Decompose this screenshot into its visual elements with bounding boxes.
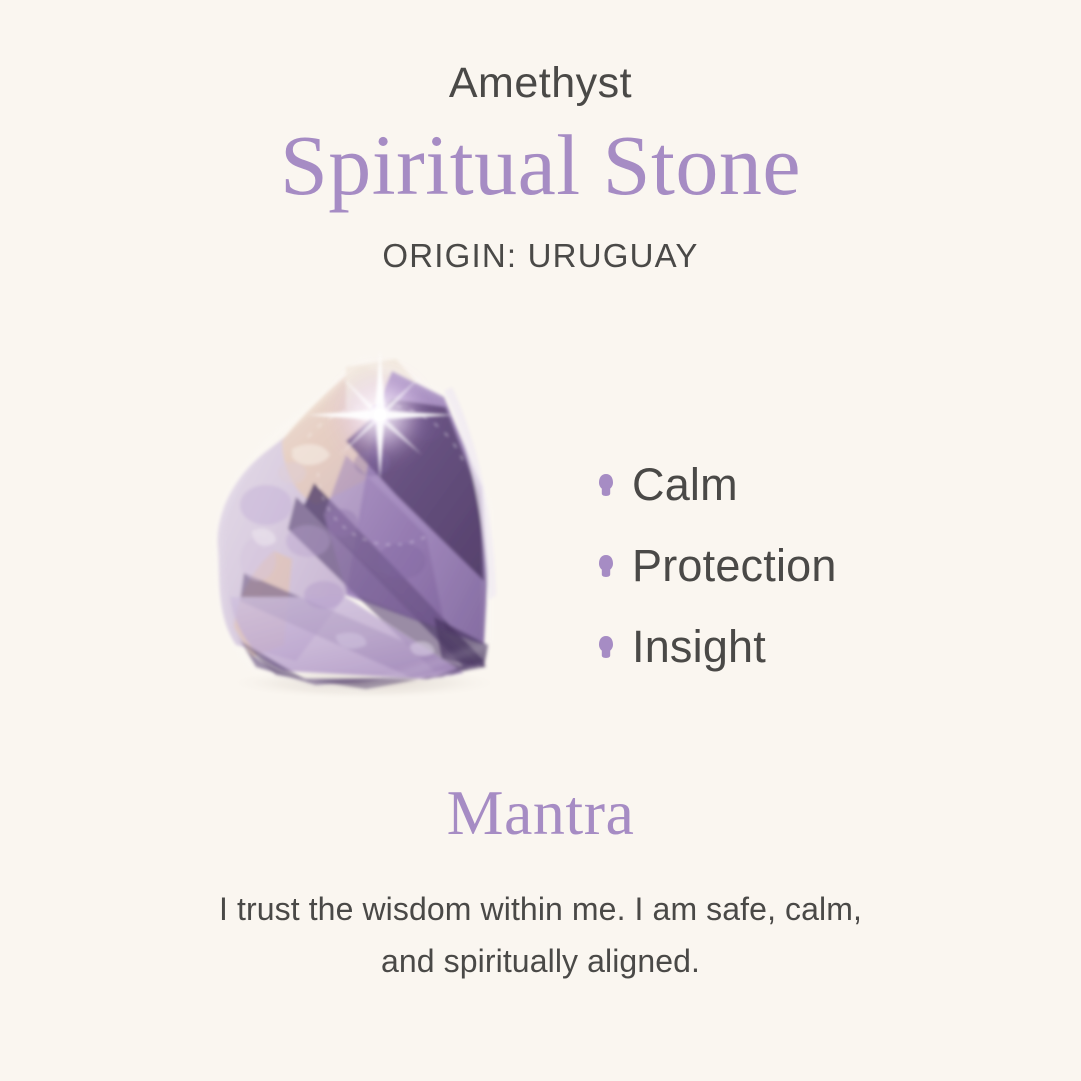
page-title: Spiritual Stone	[0, 107, 1081, 212]
property-label: Protection	[632, 543, 837, 588]
mantra-section: Mantra I trust the wisdom within me. I a…	[0, 778, 1081, 988]
properties-list: Calm Protection Insight	[598, 444, 837, 687]
gem-bullet-icon	[598, 636, 614, 658]
amethyst-crystal-icon	[196, 345, 526, 715]
mantra-text: I trust the wisdom within me. I am safe,…	[191, 848, 891, 988]
list-item: Insight	[598, 606, 837, 687]
stone-card: Amethyst Spiritual Stone ORIGIN: URUGUAY	[0, 0, 1081, 1081]
gem-bullet-icon	[598, 555, 614, 577]
list-item: Calm	[598, 444, 837, 525]
card-header: Amethyst Spiritual Stone ORIGIN: URUGUAY	[0, 0, 1081, 274]
property-label: Insight	[632, 624, 766, 669]
stone-name: Amethyst	[0, 0, 1081, 107]
gem-bullet-icon	[598, 474, 614, 496]
origin-label: ORIGIN: URUGUAY	[0, 212, 1081, 274]
mantra-heading: Mantra	[0, 778, 1081, 848]
property-label: Calm	[632, 462, 738, 507]
amethyst-crystal-illustration	[196, 345, 526, 715]
list-item: Protection	[598, 525, 837, 606]
